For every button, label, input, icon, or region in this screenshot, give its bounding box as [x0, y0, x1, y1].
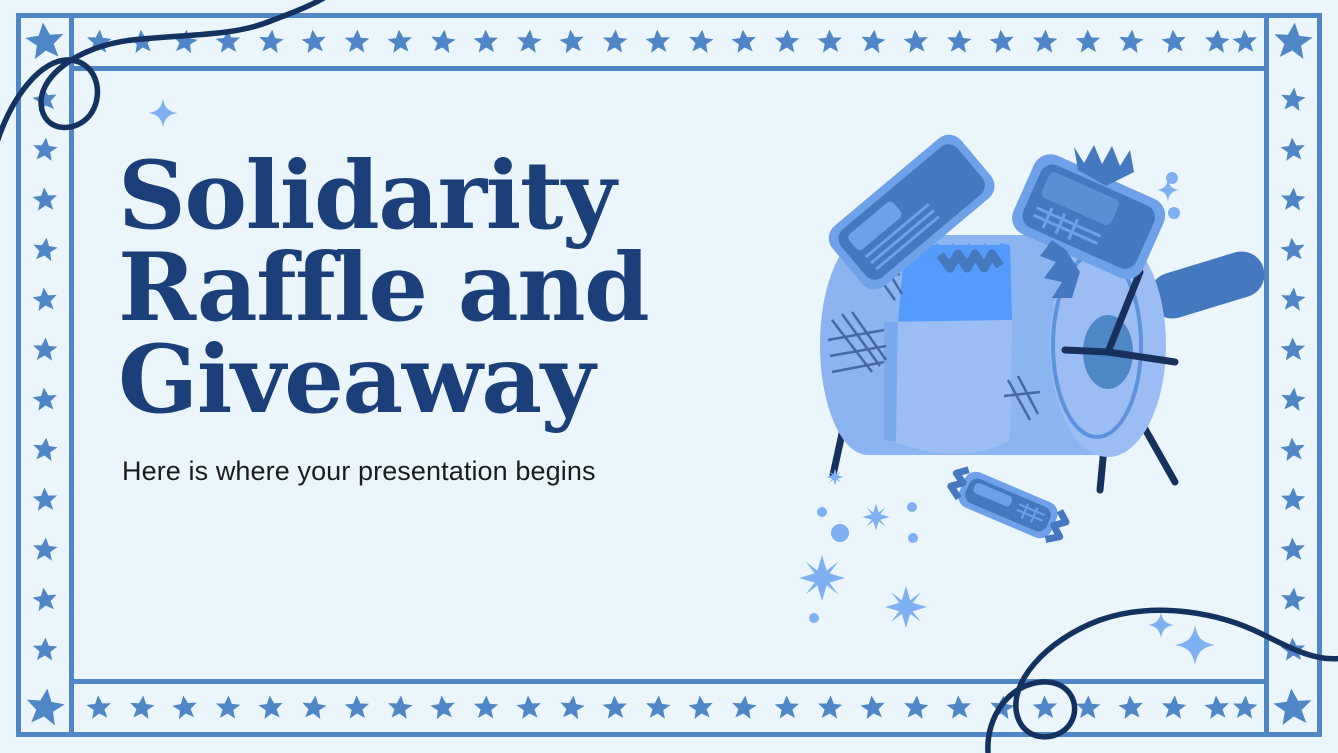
- presentation-slide: Solidarity Raffle and Giveaway Here is w…: [0, 0, 1338, 753]
- page-title: Solidarity Raffle and Giveaway: [118, 150, 758, 426]
- slide-subtitle: Here is where your presentation begins: [122, 456, 758, 487]
- squiggle-bottom-right: [988, 610, 1338, 752]
- squiggle-top-left: [0, 0, 336, 152]
- title-text-block: Solidarity Raffle and Giveaway Here is w…: [118, 150, 758, 487]
